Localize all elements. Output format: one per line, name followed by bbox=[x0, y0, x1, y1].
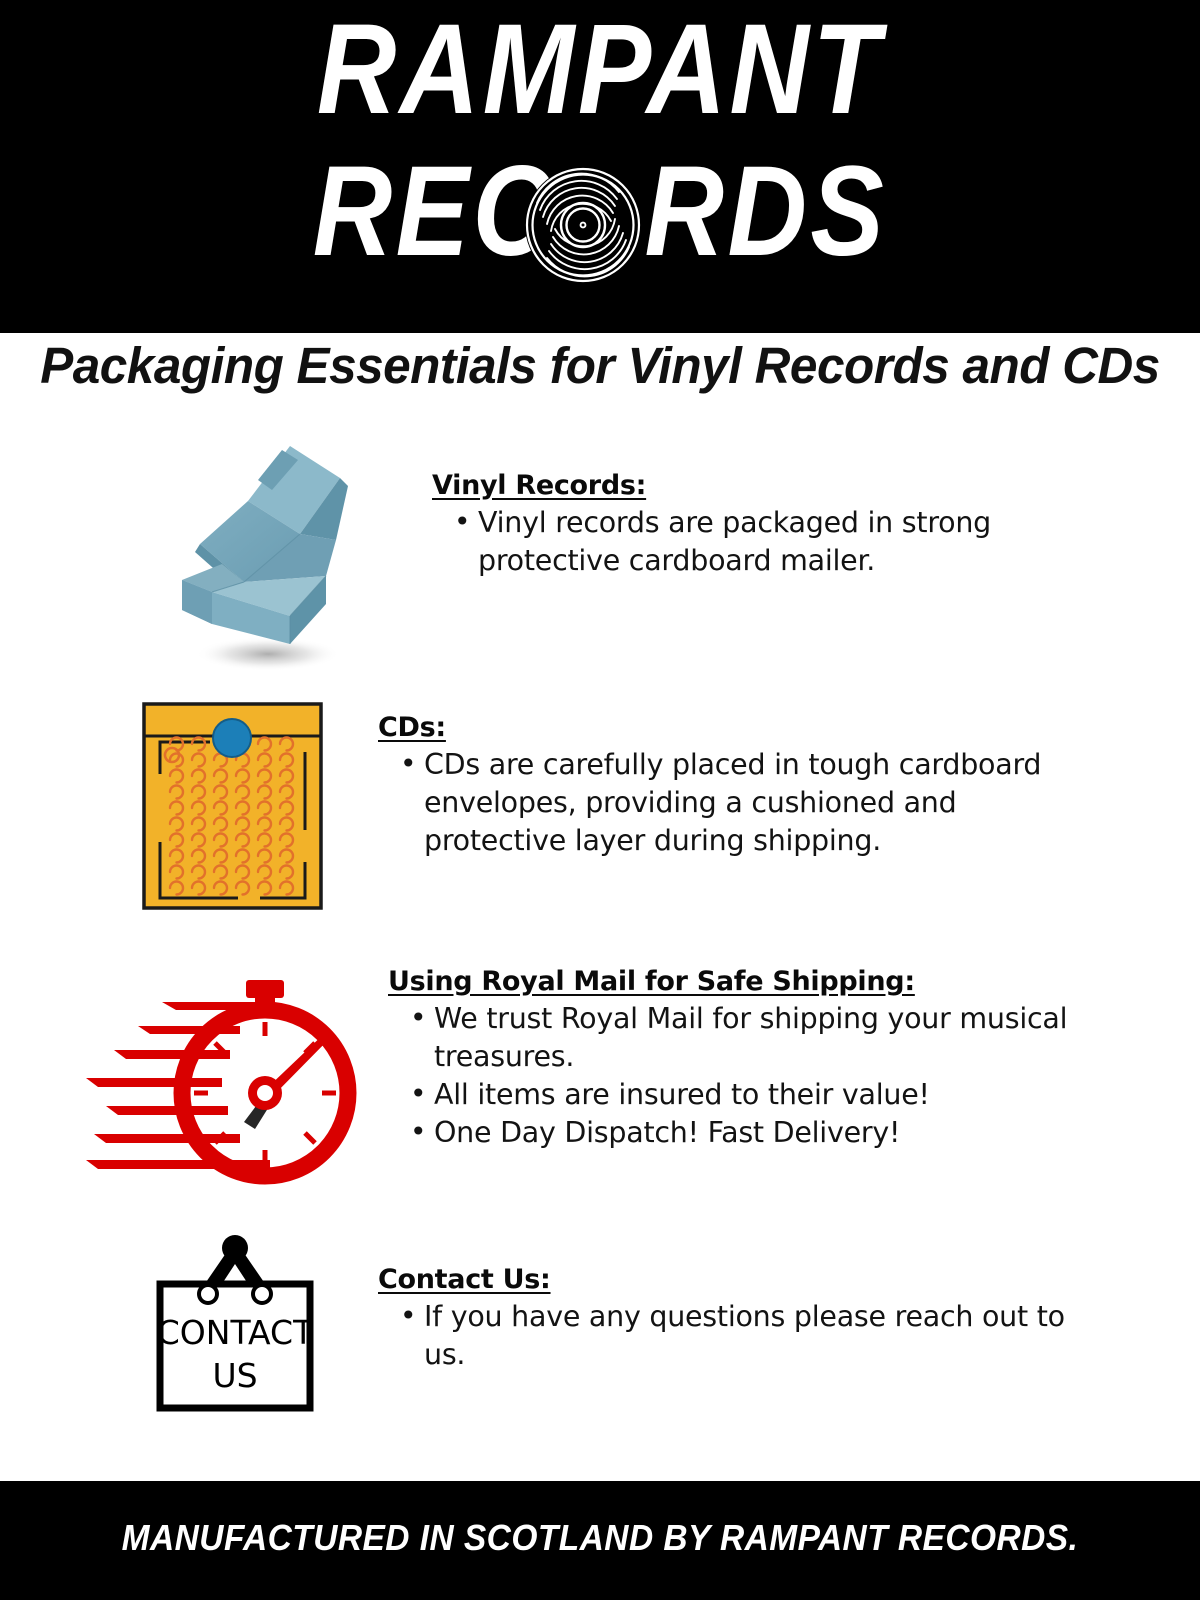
fast-stopwatch-icon bbox=[80, 950, 370, 1195]
cardboard-mailer-box-icon bbox=[140, 428, 390, 678]
section-text-container: Using Royal Mail for Safe Shipping: We t… bbox=[388, 950, 1088, 1152]
list-item: One Day Dispatch! Fast Delivery! bbox=[434, 1114, 1088, 1152]
section-bullets-royal-mail: We trust Royal Mail for shipping your mu… bbox=[388, 1000, 1088, 1152]
sign-text-line2: US bbox=[212, 1356, 257, 1395]
section-text-container: CDs: CDs are carefully placed in tough c… bbox=[378, 700, 1088, 860]
padded-envelope-icon bbox=[140, 700, 325, 912]
section-bullets-contact: If you have any questions please reach o… bbox=[378, 1298, 1088, 1374]
section-vinyl-records: Vinyl Records: Vinyl records are package… bbox=[140, 428, 1132, 678]
list-item: We trust Royal Mail for shipping your mu… bbox=[434, 1000, 1088, 1076]
brand-logo-line2: RECORDS bbox=[0, 148, 1200, 298]
section-heading-cds: CDs: bbox=[378, 712, 1088, 743]
section-icon-container bbox=[80, 950, 370, 1195]
footer-text: MANUFACTURED IN SCOTLAND BY RAMPANT RECO… bbox=[42, 1517, 1158, 1559]
section-heading-vinyl: Vinyl Records: bbox=[432, 470, 1132, 501]
section-bullets-vinyl: Vinyl records are packaged in strong pro… bbox=[432, 504, 1132, 580]
list-item: Vinyl records are packaged in strong pro… bbox=[478, 504, 1132, 580]
list-item: If you have any questions please reach o… bbox=[424, 1298, 1088, 1374]
sign-text-line1: CONTACT bbox=[157, 1313, 314, 1352]
footer-band: MANUFACTURED IN SCOTLAND BY RAMPANT RECO… bbox=[0, 1481, 1200, 1600]
section-text-container: Contact Us: If you have any questions pl… bbox=[378, 1222, 1088, 1374]
section-heading-royal-mail: Using Royal Mail for Safe Shipping: bbox=[388, 966, 1088, 997]
section-bullets-cds: CDs are carefully placed in tough cardbo… bbox=[378, 746, 1088, 860]
section-icon-container: CONTACT US bbox=[140, 1222, 340, 1412]
section-royal-mail: Using Royal Mail for Safe Shipping: We t… bbox=[80, 950, 1088, 1195]
contact-us-sign-icon: CONTACT US bbox=[140, 1222, 330, 1412]
section-text-container: Vinyl Records: Vinyl records are package… bbox=[432, 428, 1132, 580]
brand-logo-line1: RAMPANT bbox=[84, 6, 1116, 134]
brand-logo-line2-after: RDS bbox=[645, 140, 888, 283]
vinyl-record-icon bbox=[523, 165, 643, 285]
section-contact-us: CONTACT US Contact Us: If you have any q… bbox=[140, 1222, 1088, 1412]
section-icon-container bbox=[140, 428, 390, 678]
section-cds: CDs: CDs are carefully placed in tough c… bbox=[140, 700, 1088, 915]
section-icon-container bbox=[140, 700, 340, 915]
section-heading-contact: Contact Us: bbox=[378, 1264, 1088, 1295]
header-band: RAMPANT RECORDS bbox=[0, 0, 1200, 333]
list-item: CDs are carefully placed in tough cardbo… bbox=[424, 746, 1088, 860]
page-subtitle: Packaging Essentials for Vinyl Records a… bbox=[18, 336, 1182, 395]
brand-logo-line2-before: REC bbox=[313, 140, 556, 283]
list-item: All items are insured to their value! bbox=[434, 1076, 1088, 1114]
